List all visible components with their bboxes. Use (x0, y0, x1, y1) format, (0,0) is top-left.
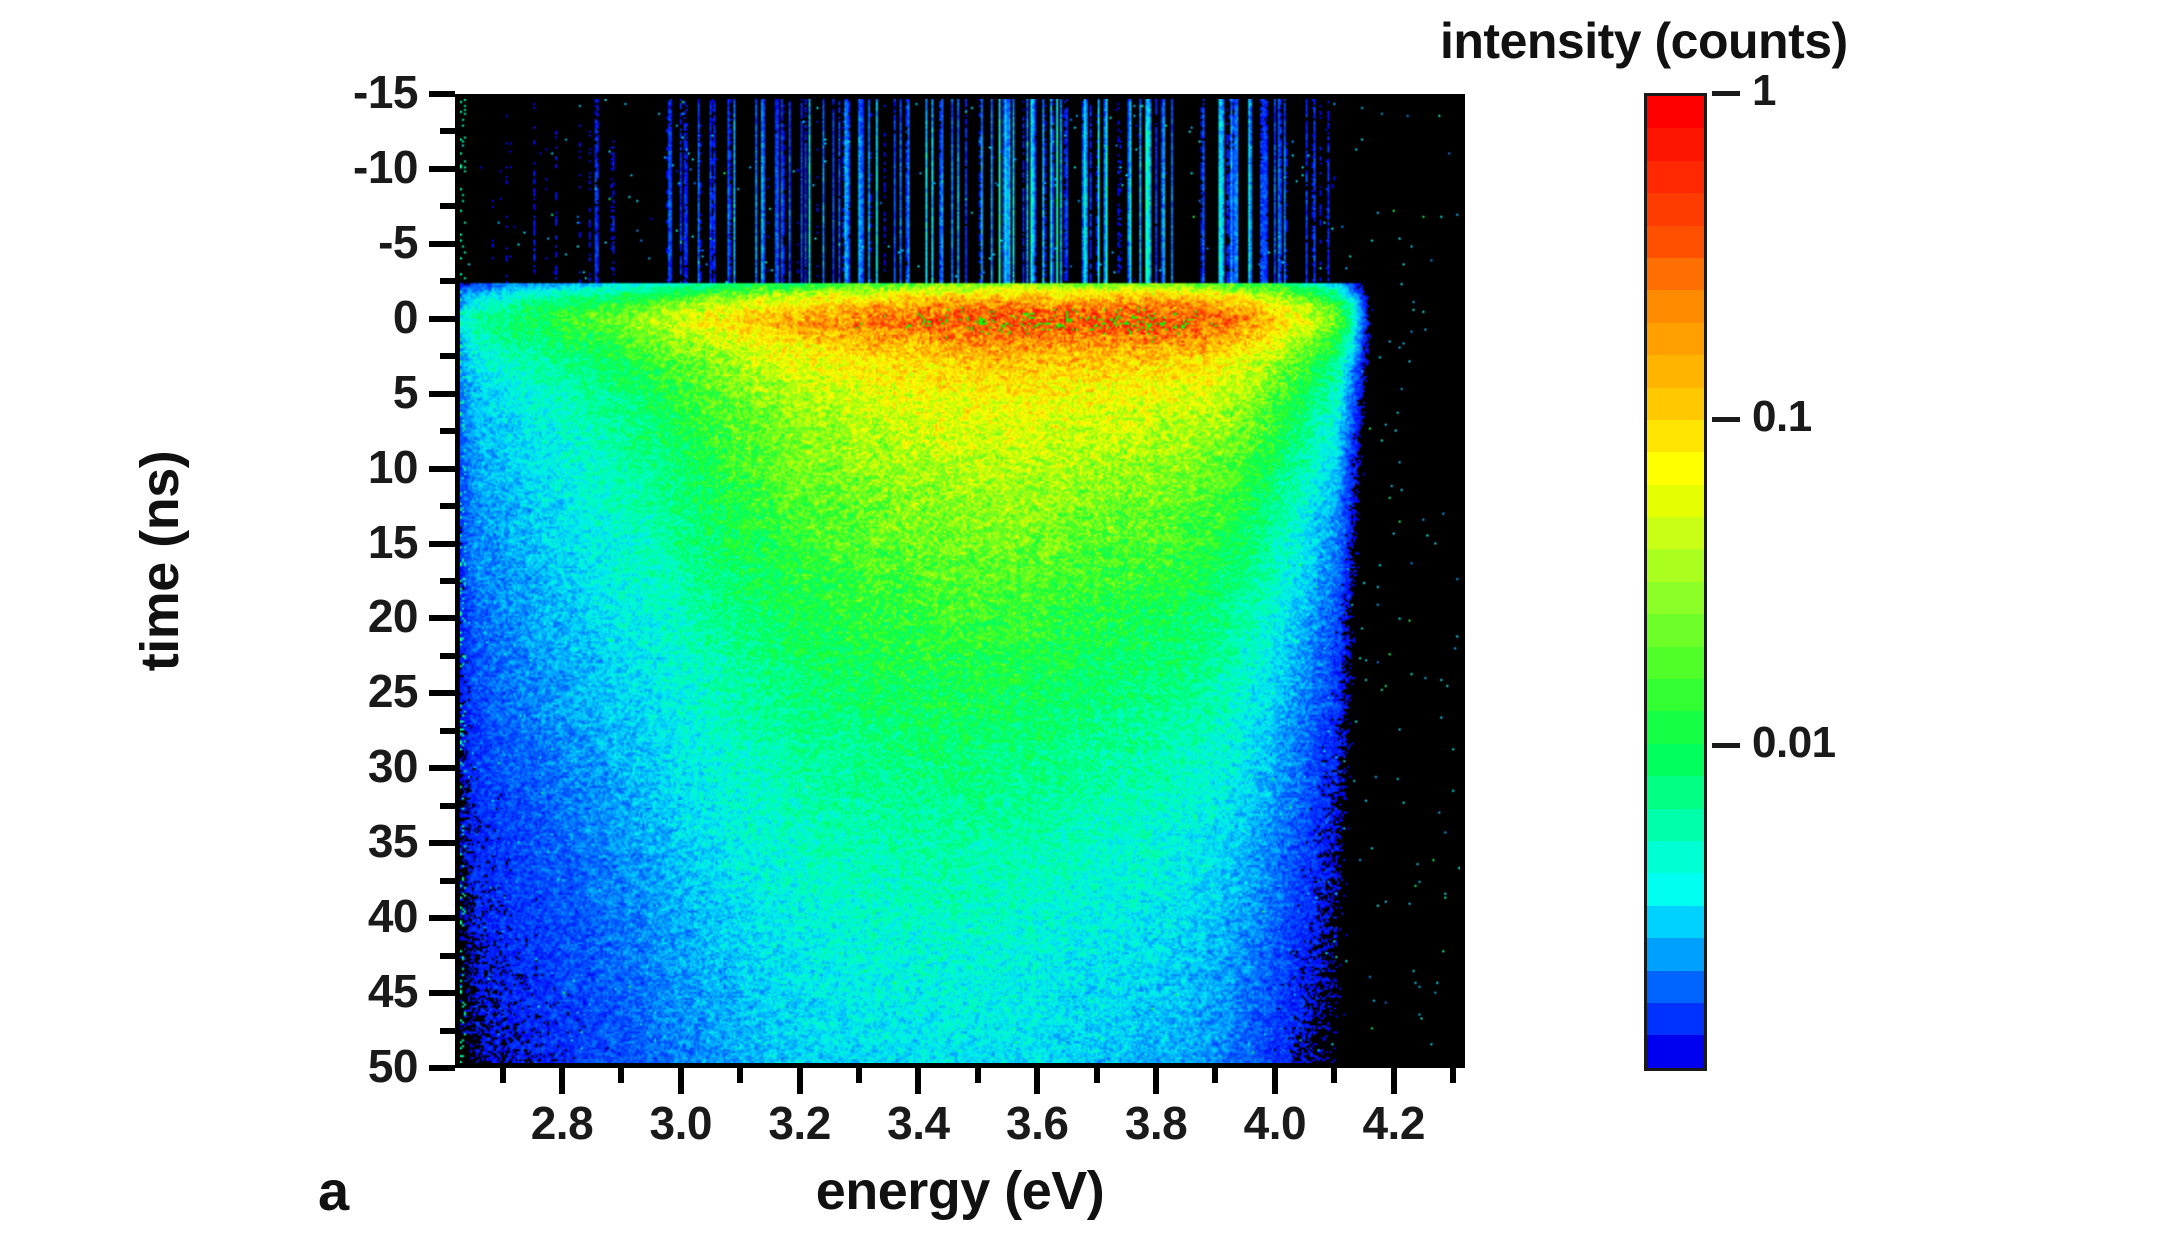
y-tick-major (429, 990, 455, 996)
colorbar-gradient (1644, 93, 1707, 1071)
x-tick-major (797, 1068, 803, 1094)
y-tick-label: 15 (268, 519, 418, 565)
colorbar-band (1647, 96, 1704, 128)
y-tick-label: -10 (268, 144, 418, 190)
x-tick-major (915, 1068, 921, 1094)
y-tick-minor (440, 203, 455, 209)
y-tick-label: 25 (268, 668, 418, 714)
colorbar-band (1647, 971, 1704, 1003)
colorbar-tick (1712, 743, 1740, 748)
y-tick-minor (440, 353, 455, 359)
colorbar-band (1647, 841, 1704, 873)
y-tick-major (429, 391, 455, 397)
x-tick-major (678, 1068, 684, 1094)
colorbar-band (1647, 226, 1704, 258)
colorbar-band (1647, 809, 1704, 841)
colorbar-band (1647, 161, 1704, 193)
colorbar-band (1647, 582, 1704, 614)
y-tick-major (429, 915, 455, 921)
y-tick-label: 0 (268, 294, 418, 340)
colorbar-band (1647, 1035, 1704, 1067)
y-tick-label: -15 (268, 69, 418, 115)
y-tick-label: 40 (268, 893, 418, 939)
y-tick-minor (440, 428, 455, 434)
x-tick-minor (1094, 1068, 1100, 1083)
y-tick-label: 10 (268, 444, 418, 490)
colorbar-band (1647, 485, 1704, 517)
x-tick-major (559, 1068, 565, 1094)
colorbar-band (1647, 355, 1704, 387)
colorbar-band (1647, 873, 1704, 905)
y-tick-major (429, 241, 455, 247)
colorbar-band (1647, 647, 1704, 679)
y-tick-major (429, 166, 455, 172)
y-tick-label: 50 (268, 1043, 418, 1089)
colorbar-band (1647, 420, 1704, 452)
y-tick-label: 35 (268, 818, 418, 864)
y-tick-major (429, 690, 455, 696)
y-tick-major (429, 466, 455, 472)
y-tick-major (429, 316, 455, 322)
colorbar-band (1647, 388, 1704, 420)
x-tick-minor (737, 1068, 743, 1083)
y-tick-label: 30 (268, 743, 418, 789)
y-tick-minor (440, 953, 455, 959)
y-tick-label: 5 (268, 369, 418, 415)
colorbar-band (1647, 711, 1704, 743)
x-tick-minor (856, 1068, 862, 1083)
y-tick-minor (440, 503, 455, 509)
colorbar-tick-label: 1 (1752, 69, 1776, 113)
colorbar-band (1647, 549, 1704, 581)
colorbar-band (1647, 744, 1704, 776)
colorbar-band (1647, 938, 1704, 970)
colorbar-band (1647, 290, 1704, 322)
y-tick-major (429, 541, 455, 547)
x-tick-minor (618, 1068, 624, 1083)
x-tick-minor (1331, 1068, 1337, 1083)
colorbar-tick (1712, 417, 1740, 422)
x-tick-minor (500, 1068, 506, 1083)
y-tick-major (429, 765, 455, 771)
y-tick-minor (440, 578, 455, 584)
heatmap-image (460, 99, 1460, 1063)
colorbar-tick-label: 0.01 (1752, 721, 1836, 765)
colorbar-title: intensity (counts) (1440, 12, 1848, 70)
y-tick-major (429, 840, 455, 846)
y-tick-major (429, 1065, 455, 1071)
x-tick-label: 4.2 (1314, 1100, 1474, 1146)
y-tick-minor (440, 803, 455, 809)
y-tick-major (429, 91, 455, 97)
x-tick-minor (1212, 1068, 1218, 1083)
x-tick-minor (1450, 1068, 1456, 1083)
x-axis-title: energy (eV) (560, 1160, 1360, 1222)
y-tick-minor (440, 728, 455, 734)
colorbar-band (1647, 193, 1704, 225)
y-tick-minor (440, 653, 455, 659)
colorbar-tick (1712, 91, 1740, 96)
y-tick-minor (440, 1028, 455, 1034)
y-tick-label: -5 (268, 219, 418, 265)
colorbar-band (1647, 776, 1704, 808)
x-tick-major (1153, 1068, 1159, 1094)
colorbar-band (1647, 452, 1704, 484)
x-tick-minor (975, 1068, 981, 1083)
y-tick-major (429, 615, 455, 621)
colorbar-band (1647, 517, 1704, 549)
x-tick-major (1272, 1068, 1278, 1094)
colorbar-band (1647, 679, 1704, 711)
y-tick-label: 20 (268, 593, 418, 639)
y-tick-minor (440, 278, 455, 284)
x-tick-major (1034, 1068, 1040, 1094)
colorbar-tick-label: 0.1 (1752, 395, 1812, 439)
x-tick-major (1391, 1068, 1397, 1094)
heatmap-plot-area (455, 94, 1465, 1068)
colorbar-band (1647, 258, 1704, 290)
y-tick-minor (440, 128, 455, 134)
y-tick-label: 45 (268, 968, 418, 1014)
y-tick-minor (440, 878, 455, 884)
colorbar-band (1647, 1003, 1704, 1035)
colorbar-band (1647, 128, 1704, 160)
colorbar-band (1647, 906, 1704, 938)
colorbar-band (1647, 323, 1704, 355)
y-axis-title: time (ns) (129, 311, 191, 811)
colorbar-band (1647, 614, 1704, 646)
figure-root: -15-10-505101520253035404550 2.83.03.23.… (0, 0, 2160, 1260)
panel-letter-label: a (318, 1158, 349, 1223)
